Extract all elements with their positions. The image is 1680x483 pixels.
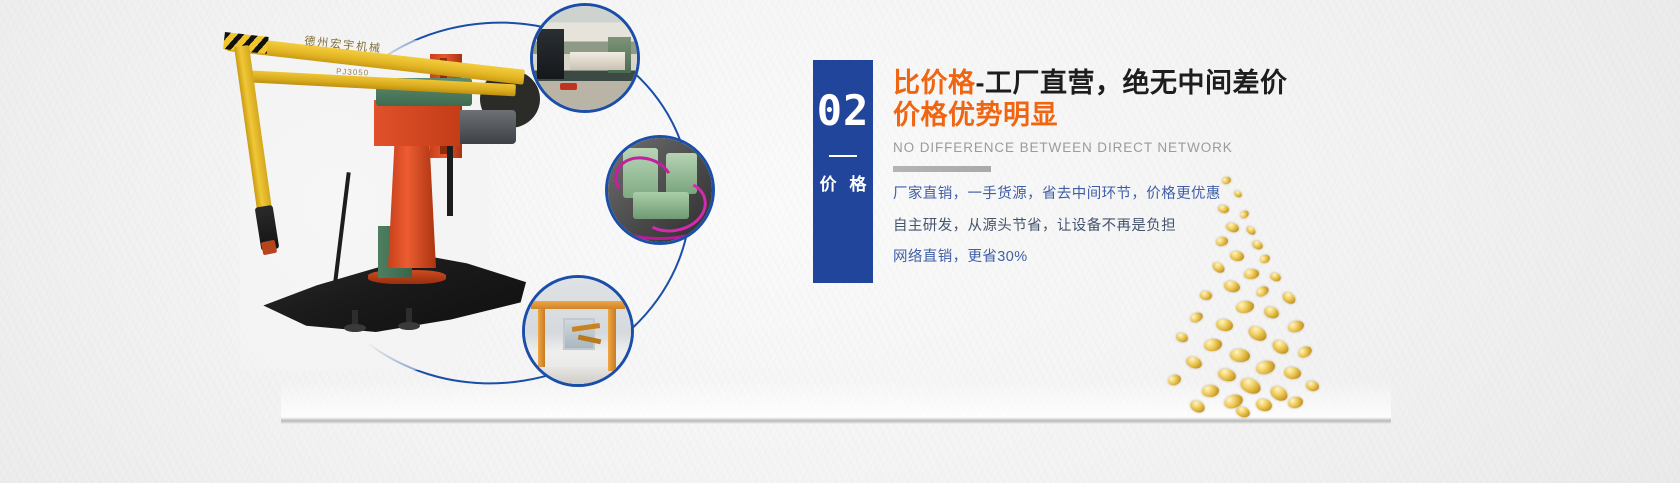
gold-coin [1189,311,1205,325]
headline-rest: -工厂直营，绝无中间差价 [976,68,1288,98]
gold-coin [1167,373,1183,387]
gold-coin [1245,225,1257,237]
gold-coin [1297,344,1314,359]
crane-column [388,138,436,268]
english-subtitle: NO DIFFERENCE BETWEEN DIRECT NETWORK [893,140,1413,155]
gantry-column-left [538,301,545,367]
gold-coin [1217,204,1229,214]
gold-coin [1223,279,1241,294]
gold-coin [1263,305,1281,320]
gold-coin [1185,354,1204,370]
badge-label: 价 格 [813,170,873,195]
photo-circle-pneumatic-valves [605,135,715,245]
crane-foot-pad [344,324,366,332]
gold-coin [1200,290,1213,300]
gold-coin [1246,323,1269,343]
gold-coin [1229,348,1250,363]
badge-divider [829,155,857,157]
gold-coin [1202,384,1220,397]
gold-coin [1175,331,1189,343]
gold-coin [1270,337,1291,356]
gantry-beam [531,301,624,308]
gold-coin [1259,253,1272,265]
gold-coin [1269,271,1282,283]
gold-coin [1215,318,1234,333]
gold-coin [1280,290,1297,306]
badge-number: 02 [813,90,873,132]
photo-circle-gantry-manipulator [522,275,634,387]
gold-coin [1283,366,1302,380]
gold-coin [1217,367,1238,383]
gold-coin [1268,383,1290,403]
headline-line-1: 比价格-工厂直营，绝无中间差价 [893,66,1413,101]
gold-coin [1255,284,1271,298]
crane-tension-rod [333,172,350,282]
promo-banner: 德州宏宇机械 PJ3050 [0,0,1680,483]
crane-motor [458,110,516,144]
gold-coin [1225,221,1240,234]
gold-coin [1215,236,1229,247]
illustration-group: 德州宏宇机械 PJ3050 [180,0,760,420]
workshop-red-object [560,83,577,90]
gold-coin [1255,359,1277,376]
gold-coin [1238,375,1263,396]
gold-coin [1235,300,1255,315]
crane-product-image: 德州宏宇机械 PJ3050 [216,18,526,348]
workshop-green-machine [608,37,631,72]
gold-coin [1233,189,1243,198]
gantry-column-right [608,301,616,371]
gantry-photo [525,278,631,384]
gold-coin [1211,260,1227,275]
subtitle-divider [893,166,991,172]
headline-line-2: 价格优势明显 [893,100,1413,132]
valve-hose-c [610,202,710,239]
gold-coin [1251,239,1264,251]
photo-circle-workshop-lathes [530,3,640,113]
crane-head-box [374,100,460,146]
gold-coin [1287,319,1305,334]
gold-coin [1203,338,1222,352]
gold-coin [1305,380,1320,392]
crane-rod [447,146,453,216]
crane-gripper-tip [261,240,277,256]
workshop-photo [533,6,637,110]
gold-coin [1239,209,1250,220]
gold-coin [1221,176,1232,186]
headline-accent: 比价格 [893,68,976,98]
crane-foot-pad [398,322,420,330]
gold-coin [1229,250,1244,262]
gold-coin [1244,268,1260,280]
section-number-badge: 02 价 格 [813,60,873,283]
gold-coins-graphic [1160,175,1340,405]
valve-photo [608,138,712,242]
